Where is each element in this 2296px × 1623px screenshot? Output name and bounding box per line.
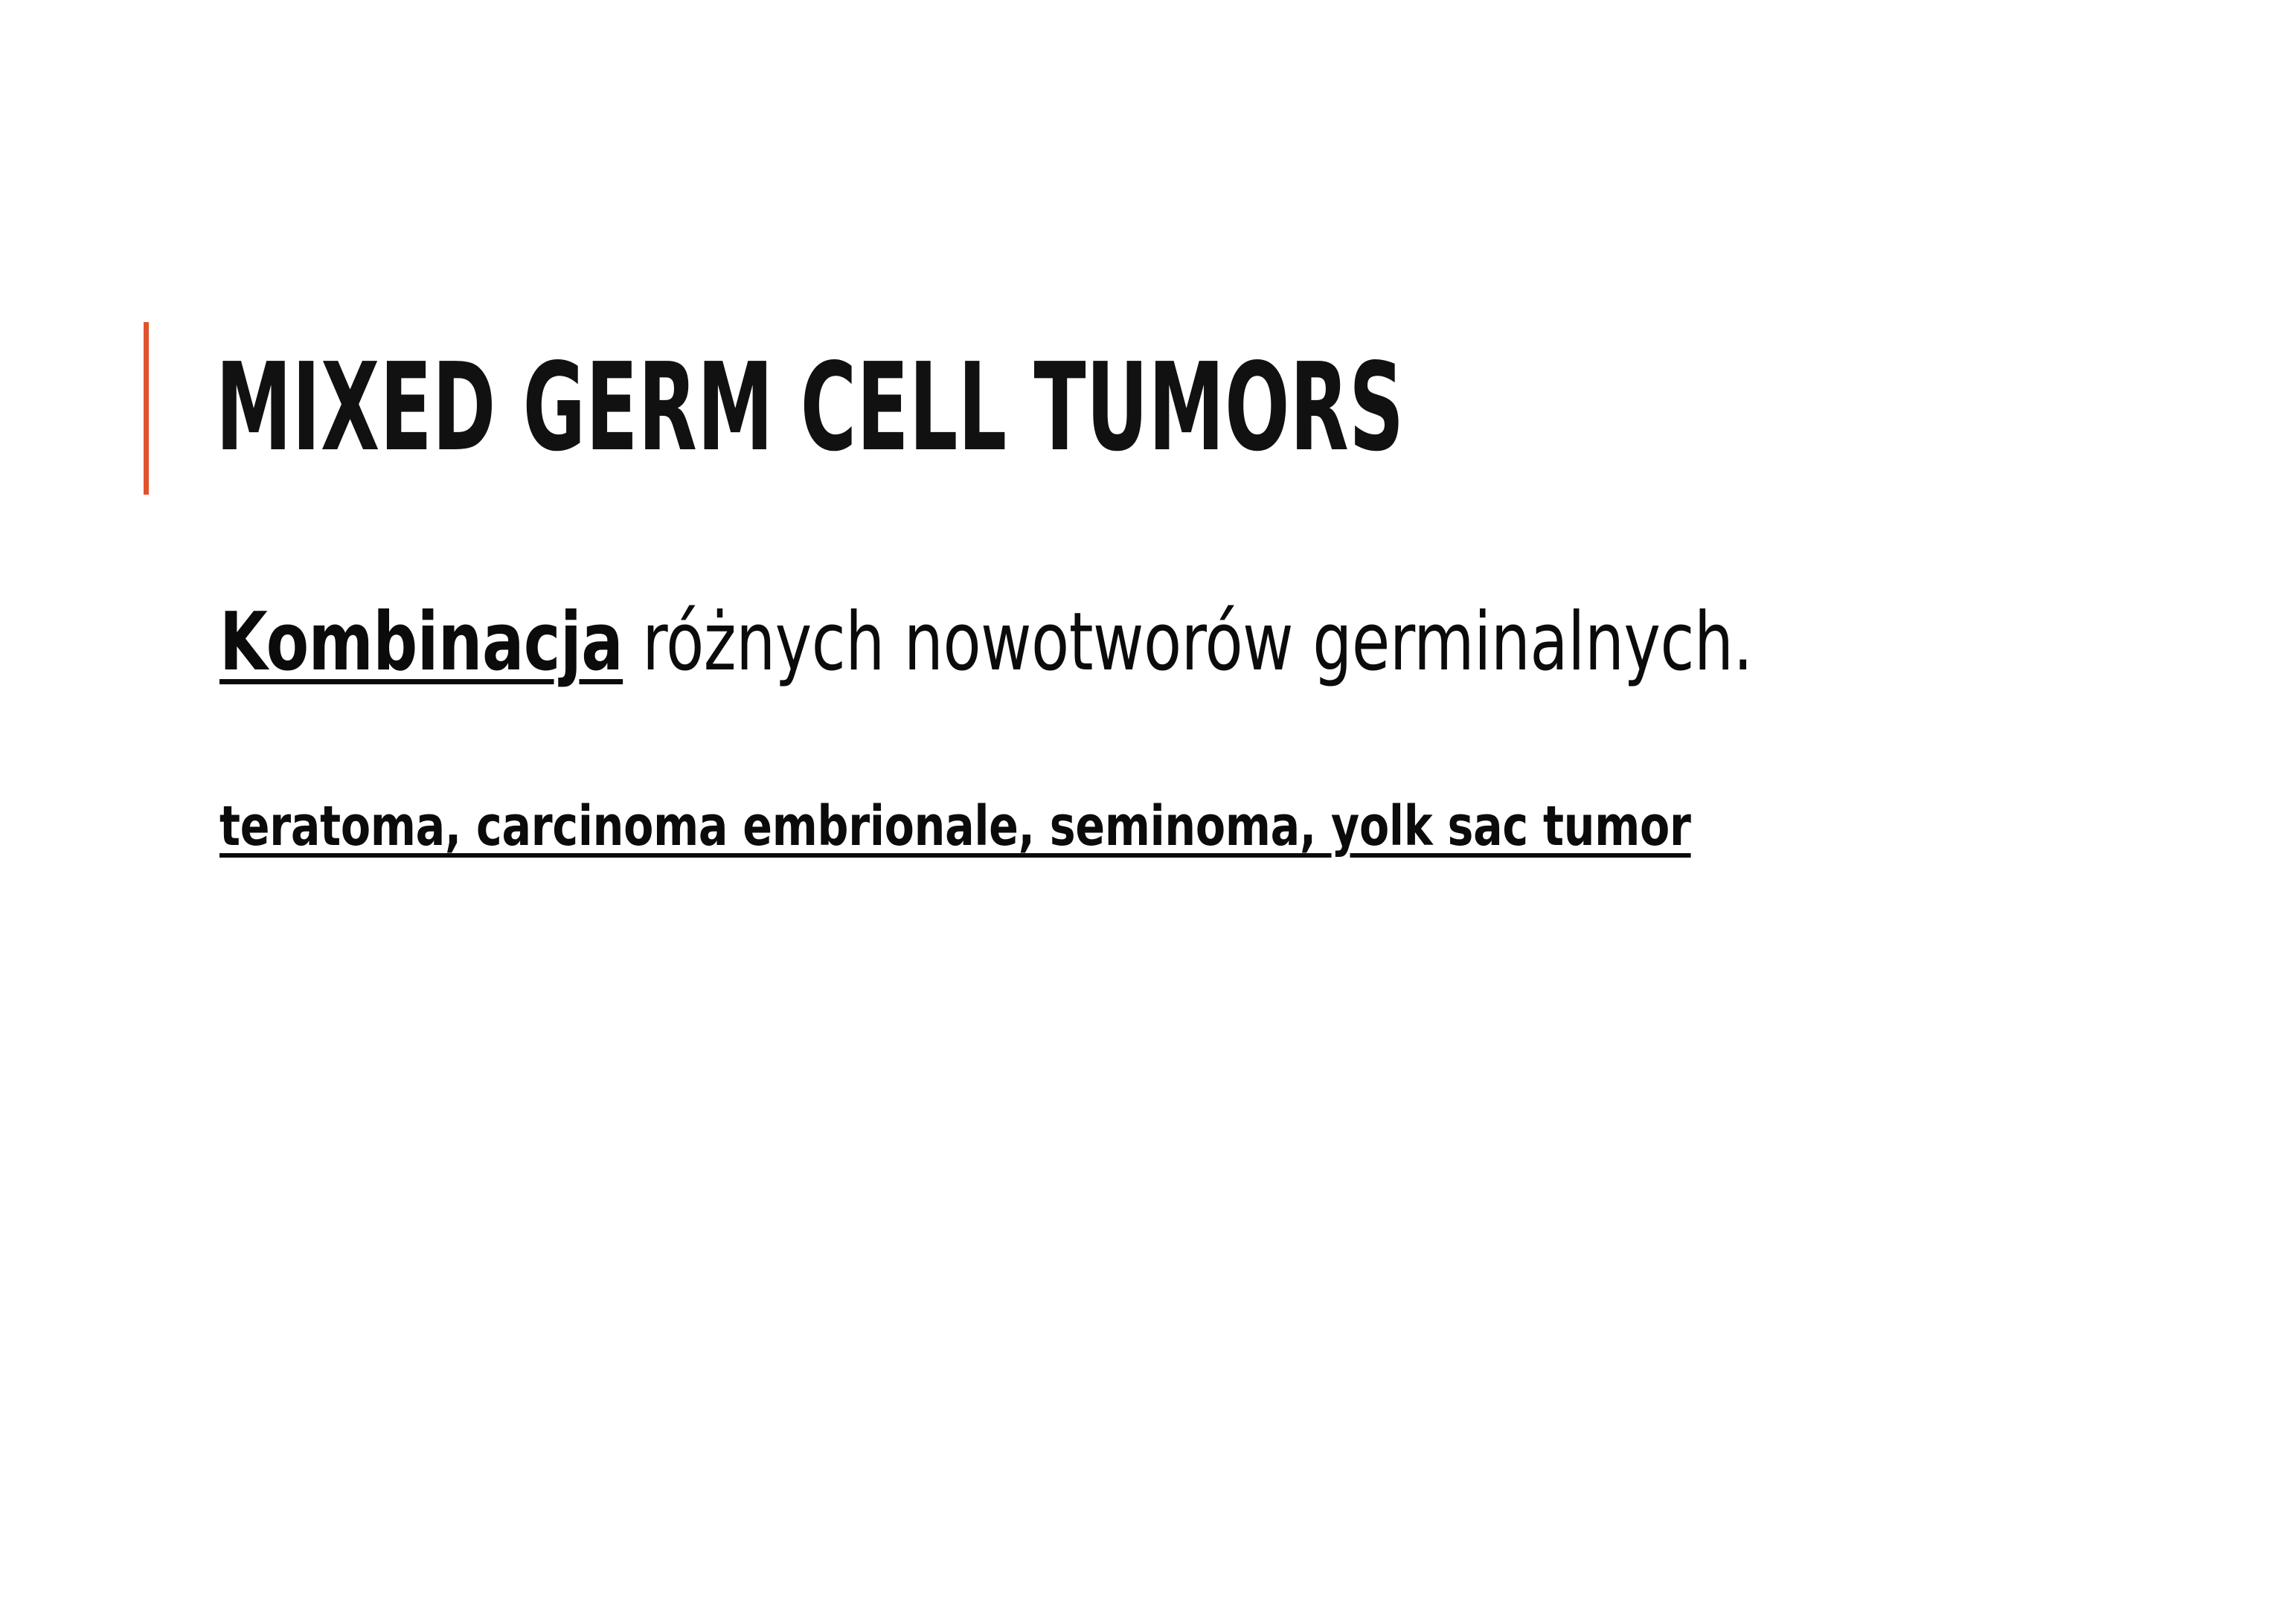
body-paragraph-1-rest: różnych nowotworów germinalnych. (623, 596, 1753, 689)
body-paragraph-2: teratoma, carcinoma embrionale, seminoma… (219, 795, 1922, 858)
accent-bar-icon (144, 322, 149, 495)
title-block: MIXED GERM CELL TUMORS (144, 322, 1929, 495)
slide-canvas: MIXED GERM CELL TUMORS Kombinacja różnyc… (0, 0, 2296, 1623)
body-paragraph-1-lead: Kombinacja (219, 596, 623, 689)
page-title: MIXED GERM CELL TUMORS (216, 322, 1404, 495)
body-spacer (219, 690, 2154, 795)
body-block: Kombinacja różnych nowotworów germinalny… (219, 595, 2154, 859)
body-paragraph-1: Kombinacja różnych nowotworów germinalny… (219, 595, 1883, 690)
